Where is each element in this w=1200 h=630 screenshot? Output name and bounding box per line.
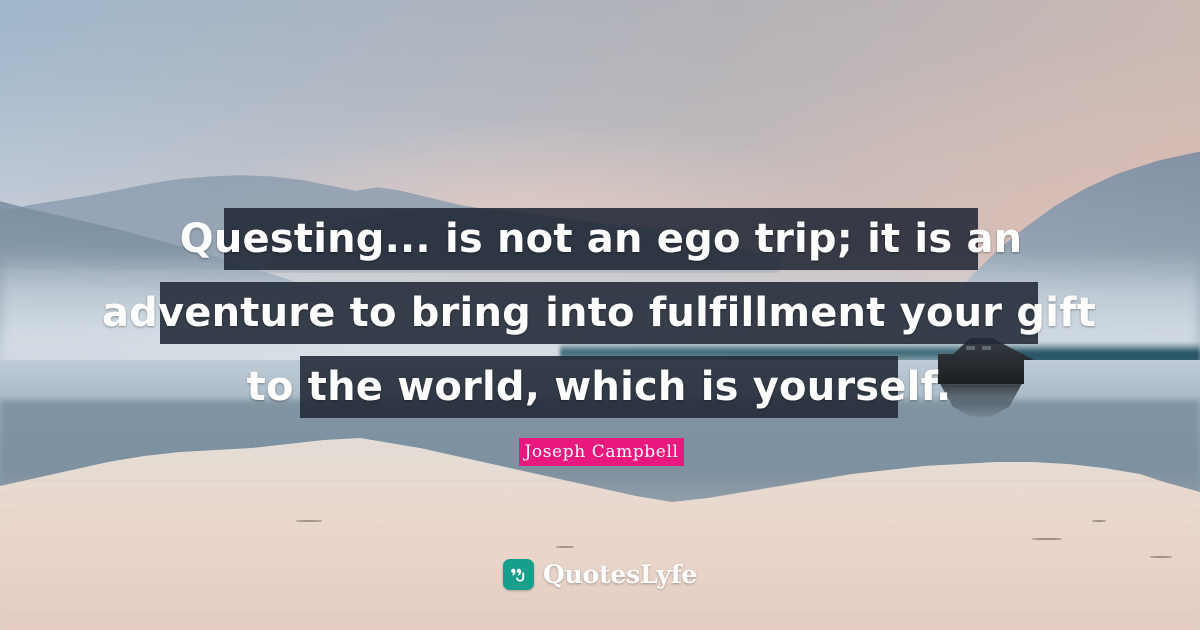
quote-line-1: Questing... is not an ego trip; it is an xyxy=(224,208,978,270)
boathouse-window xyxy=(966,346,975,350)
quote-line-2: adventure to bring into fulfillment your… xyxy=(160,282,1038,344)
water-speck xyxy=(556,546,574,548)
watermark: QuotesLyfe xyxy=(0,556,1200,592)
water-speck xyxy=(1032,538,1062,540)
author-badge: Joseph Campbell xyxy=(519,438,684,466)
water-ripples xyxy=(0,480,1200,630)
boathouse-window xyxy=(982,346,991,350)
quote-smiley-icon xyxy=(503,559,534,590)
quote-line-3: to the world, which is yourself. xyxy=(300,356,898,418)
quote-card: Questing... is not an ego trip; it is an… xyxy=(0,0,1200,630)
water-speck xyxy=(1092,520,1106,522)
watermark-brand: QuotesLyfe xyxy=(543,560,697,589)
water-speck xyxy=(296,520,322,522)
